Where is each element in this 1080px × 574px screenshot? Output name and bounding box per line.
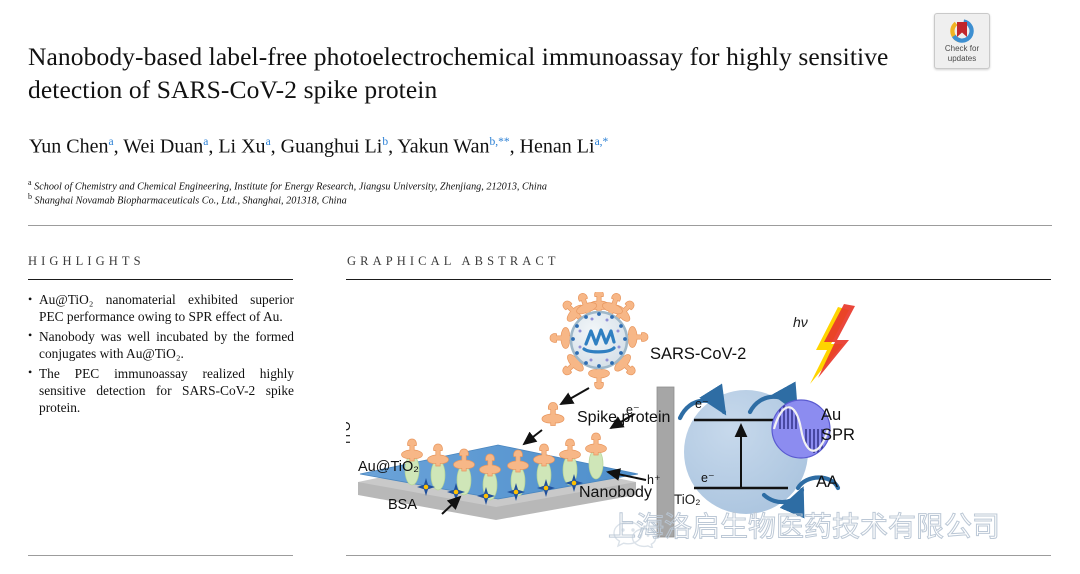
label-sars-cov-2: SARS-CoV-2	[650, 345, 746, 364]
author-affiliation-marker[interactable]: a	[266, 136, 271, 148]
label-spr: SPR	[821, 426, 855, 445]
label-ito: ITO	[346, 420, 353, 444]
check-for-updates-label: Check for updates	[935, 44, 989, 63]
graphical-abstract-bottom-rule	[346, 555, 1051, 556]
affiliation-marker: b	[28, 192, 32, 201]
author-affiliation-marker[interactable]: b,**	[489, 136, 509, 148]
author-affiliation-marker[interactable]: a,*	[595, 136, 609, 148]
label-hole: h⁺	[647, 472, 661, 487]
arrow-virus-to-spike	[561, 388, 589, 404]
list-item: Nanobody was well incubated by the forme…	[28, 328, 294, 363]
list-item: Au@TiO₂ nanomaterial exhibited superior …	[28, 291, 294, 326]
company-watermark: 上海洛启生物医药技术有限公司	[608, 512, 1000, 542]
label-electron-3: e⁻	[701, 470, 715, 485]
highlights-section: Au@TiO₂ nanomaterial exhibited superior …	[28, 291, 294, 419]
affiliation-b: b Shanghai Novamab Biopharmaceuticals Co…	[28, 190, 347, 207]
free-spike-protein	[542, 402, 564, 425]
page-title: Nanobody-based label-free photoelectroch…	[28, 40, 908, 106]
label-tio2: TiO₂	[674, 492, 701, 507]
label-electron-1: e⁻	[626, 402, 640, 417]
affiliation-marker: a	[28, 178, 32, 187]
arrow-spike-to-surface	[524, 430, 542, 444]
highlights-heading: HIGHLIGHTS	[28, 254, 145, 269]
author-name: Guanghui Li	[281, 136, 383, 158]
graphical-abstract-heading-rule	[346, 279, 1051, 280]
check-for-updates-badge[interactable]: Check for updates	[934, 13, 990, 69]
label-h-nu: hν	[793, 314, 808, 330]
label-au-tio2: Au@TiO₂	[358, 459, 419, 475]
badge-line-1: Check for	[945, 44, 979, 53]
author-affiliation-marker[interactable]: b	[382, 136, 388, 148]
label-bsa: BSA	[388, 497, 417, 513]
author-list: Yun Chena, Wei Duana, Li Xua, Guanghui L…	[29, 129, 608, 160]
highlights-heading-rule	[28, 279, 293, 280]
sars-cov-2-virion	[550, 292, 648, 389]
affiliation-text: Shanghai Novamab Biopharmaceuticals Co.,…	[35, 195, 347, 206]
label-nanobody: Nanobody	[579, 484, 652, 502]
author-name: Yakun Wan	[397, 136, 489, 158]
article-header: Nanobody-based label-free photoelectroch…	[0, 0, 1080, 225]
header-divider	[28, 225, 1052, 226]
label-ascorbic-acid: AA	[816, 473, 838, 492]
list-item: The PEC immunoassay realized highly sens…	[28, 365, 294, 417]
label-electron-2: e⁻	[695, 396, 709, 411]
light-excitation-bolt	[810, 304, 855, 384]
label-au: Au	[821, 406, 841, 425]
author-affiliation-marker[interactable]: a	[203, 136, 208, 148]
author-affiliation-marker[interactable]: a	[108, 136, 113, 148]
author-name: Henan Li	[520, 136, 595, 158]
label-spike-protein: Spike protein	[577, 409, 670, 427]
badge-line-2: updates	[948, 54, 976, 63]
graphical-abstract-heading: GRAPHICAL ABSTRACT	[347, 254, 560, 269]
author-name: Wei Duan	[123, 136, 203, 158]
author-name: Yun Chen	[29, 136, 108, 158]
author-name: Li Xu	[218, 136, 265, 158]
highlights-bottom-rule	[28, 555, 293, 556]
highlights-list: Au@TiO₂ nanomaterial exhibited superior …	[28, 291, 294, 417]
